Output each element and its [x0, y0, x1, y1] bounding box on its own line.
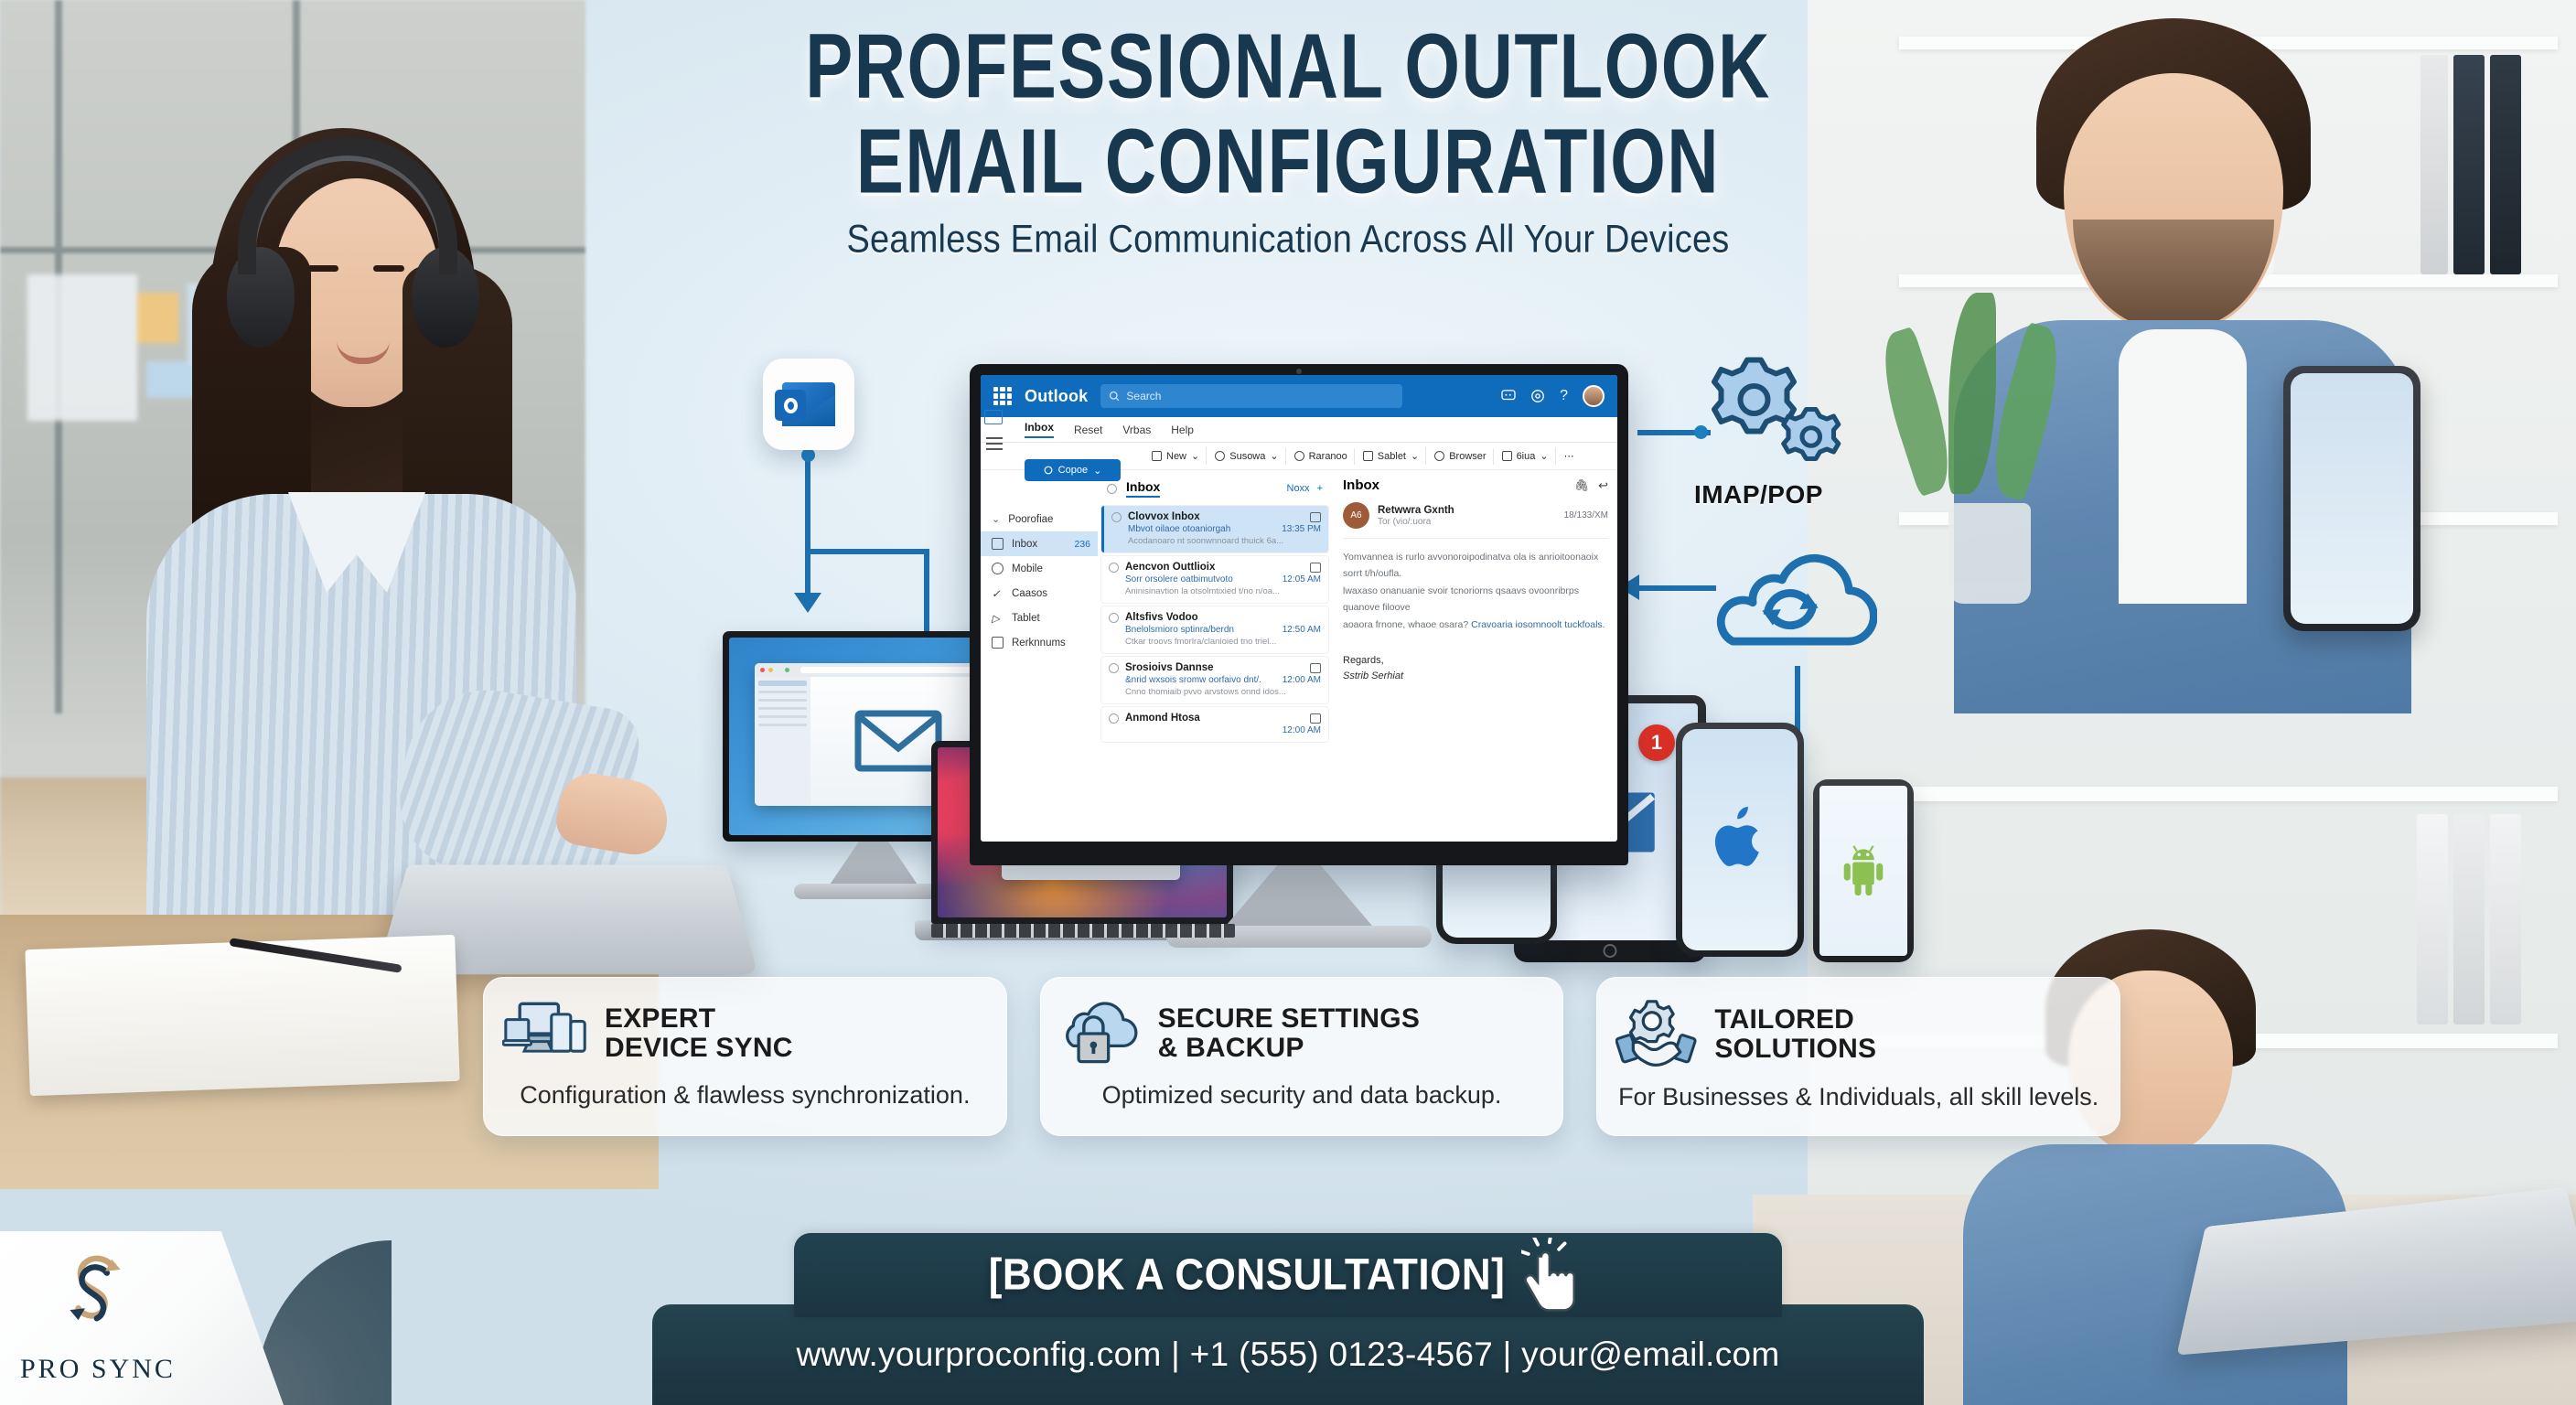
outlook-top-bar: Outlook Search ?: [981, 375, 1617, 417]
outlook-app-icon: [763, 359, 854, 450]
list-title: Inbox: [1126, 479, 1160, 498]
mail-envelope-icon: [854, 710, 942, 772]
devices-sync-icon: [502, 998, 590, 1069]
message-body: Yomvannea is rurlo avvonoroipodinatva ol…: [1343, 549, 1608, 633]
ribbon-raranoo[interactable]: Raranoo: [1288, 448, 1355, 465]
compose-icon: [1044, 466, 1053, 475]
sidebar-item-tablet[interactable]: ▷ Tablet: [981, 606, 1098, 630]
outlook-tab-bar: Inbox Reset Vrbas Help: [981, 417, 1617, 443]
trash-icon: [992, 637, 1004, 649]
card-title-line-2: & BACKUP: [1158, 1034, 1420, 1063]
small-monitor-foot: [794, 884, 954, 899]
home-button[interactable]: [1604, 944, 1617, 958]
mail-view-icon[interactable]: [984, 410, 1003, 424]
connector-right-down: [924, 549, 929, 631]
android-logo-icon: [1840, 843, 1887, 898]
compose-button[interactable]: Copoe⌄: [1025, 459, 1121, 481]
outlook-app-window: Outlook Search ? Inbox Reset Vrbas Help: [981, 375, 1617, 842]
outlook-sidebar: ⌄ Poorofiae Inbox 236 Mobile ✓ Caaso: [981, 470, 1098, 842]
notepad: [25, 935, 459, 1096]
headline-block: PROFESSIONAL OUTLOOK EMAIL CONFIGURATION…: [0, 24, 2576, 260]
chat-icon[interactable]: [1501, 390, 1516, 402]
card-description: Optimized security and data backup.: [1059, 1080, 1545, 1110]
list-add-button[interactable]: +: [1317, 483, 1323, 494]
card-title-line-2: DEVICE SYNC: [605, 1034, 793, 1063]
ribbon-overflow[interactable]: ⋯: [1558, 447, 1581, 465]
card-secure-settings-backup[interactable]: SECURE SETTINGS & BACKUP Optimized secur…: [1040, 977, 1564, 1136]
tab-vrbas[interactable]: Vrbas: [1122, 424, 1151, 436]
help-icon[interactable]: ?: [1560, 388, 1568, 404]
connector-right-branch: [810, 549, 929, 554]
sender-name: Retwwra Gxnth: [1378, 505, 1454, 516]
laptop-keyboard: [931, 924, 1235, 938]
book-consultation-button[interactable]: [BOOK A CONSULTATION]: [794, 1233, 1782, 1317]
menu-icon[interactable]: [986, 437, 1003, 450]
imap-pop-label: IMAP/POP: [1694, 480, 1956, 509]
reading-pane-title: Inbox: [1343, 477, 1379, 493]
ribbon-susowa[interactable]: Susowa⌄: [1208, 447, 1285, 465]
sidebar-item-mobile[interactable]: Mobile: [981, 556, 1098, 581]
reply-icon[interactable]: ↩: [1598, 478, 1608, 493]
handshake-gear-icon: [1615, 998, 1700, 1071]
tab-reset[interactable]: Reset: [1074, 424, 1102, 436]
ribbon-6iua[interactable]: 6iua⌄: [1496, 447, 1556, 465]
check-icon: ✓: [992, 587, 1004, 599]
click-cursor-icon: [1521, 1238, 1587, 1313]
contact-info[interactable]: www.yourproconfig.com | +1 (555) 0123-45…: [797, 1335, 1780, 1374]
outlook-body: ⌄ Poorofiae Inbox 236 Mobile ✓ Caaso: [981, 470, 1617, 842]
sidebar-item-rerknnums[interactable]: Rerknnums: [981, 630, 1098, 655]
settings-icon[interactable]: [1530, 389, 1545, 403]
sidebar-item-caasos[interactable]: ✓ Caasos: [981, 581, 1098, 606]
desktop-monitor: Outlook Search ? Inbox Reset Vrbas Help: [970, 364, 1628, 865]
handheld-phone: [2283, 366, 2420, 631]
s-sync-arrows-logo: [53, 1248, 137, 1332]
search-input[interactable]: Search: [1100, 384, 1402, 408]
inbox-icon: [992, 538, 1004, 550]
card-tailored-solutions[interactable]: TAILORED SOLUTIONS For Businesses & Indi…: [1596, 977, 2120, 1136]
gear-icon: [1681, 353, 1846, 463]
search-placeholder: Search: [1126, 390, 1161, 402]
search-icon: [1109, 391, 1120, 402]
envelope-icon: [782, 382, 835, 426]
outlook-brand: Outlook: [1025, 387, 1088, 406]
connector-dot: [801, 448, 815, 462]
connector-app-to-monitor: [805, 457, 810, 529]
android-device: [1813, 779, 1914, 962]
ribbon-browser[interactable]: Browser: [1428, 448, 1493, 465]
sender-recipients: Tor (vio/:uora: [1378, 517, 1454, 527]
avatar: A6: [1343, 502, 1369, 529]
message-body-link[interactable]: Cravoaria iosomnoolt tuckfoals.: [1471, 619, 1605, 630]
message-date: 18/133/XM: [1564, 510, 1608, 520]
card-title-line-1: TAILORED: [1714, 1005, 1876, 1035]
card-title-line-1: SECURE SETTINGS: [1158, 1004, 1420, 1034]
message-list-header: Inbox Noxx +: [1101, 477, 1328, 502]
table-row[interactable]: Srosioivs Dannse &nrid wxsois sromw oorf…: [1101, 657, 1328, 703]
sidebar-item-inbox[interactable]: Inbox 236: [981, 531, 1098, 556]
card-expert-device-sync[interactable]: EXPERT DEVICE SYNC Configuration & flawl…: [483, 977, 1007, 1136]
banner-canvas: PROFESSIONAL OUTLOOK EMAIL CONFIGURATION…: [0, 0, 2576, 1405]
attachment-icon[interactable]: 🖇: [1574, 478, 1590, 493]
app-launcher-icon[interactable]: [993, 387, 1012, 405]
table-row[interactable]: Clovvox Inbox Mbvot oilaoe otoaniorgah13…: [1101, 506, 1328, 552]
message-sender-row: A6 Retwwra Gxnth Tor (vio/:uora 18/133/X…: [1343, 502, 1608, 539]
cloud-sync-icon: [1703, 543, 1877, 681]
outlook-o-glyph: [775, 390, 806, 421]
page-title: PROFESSIONAL OUTLOOK EMAIL CONFIGURATION: [0, 24, 2576, 205]
mobile-icon: [992, 563, 1004, 574]
outlook-top-icons: ?: [1501, 385, 1605, 407]
webcam-icon: [1296, 369, 1302, 374]
table-row[interactable]: Aencvon Outtlioix Sorr orsolere oatbimut…: [1101, 556, 1328, 603]
sidebar-item-poorofiae[interactable]: ⌄ Poorofiae: [981, 507, 1098, 531]
card-title-line-1: EXPERT: [605, 1004, 793, 1034]
table-row[interactable]: Altsfivs Vodoo Bnelolsmioro sptinra/berd…: [1101, 606, 1328, 653]
select-all-checkbox[interactable]: [1107, 484, 1117, 494]
inbox-unread-count: 236: [1074, 539, 1090, 550]
cta-label: [BOOK A CONSULTATION]: [989, 1250, 1506, 1301]
reading-pane: Inbox 🖇 ↩ A6 Retwwra Gxnth Tor (vio/:uor…: [1334, 470, 1617, 842]
ribbon-sablet[interactable]: Sablet⌄: [1357, 447, 1426, 465]
message-signature: Regards, Sstrib Serhiat: [1343, 653, 1608, 685]
notification-badge: 1: [1638, 724, 1675, 761]
contact-footer-bar: www.yourproconfig.com | +1 (555) 0123-45…: [652, 1304, 1924, 1405]
apple-logo-icon: [1711, 805, 1769, 874]
tab-inbox[interactable]: Inbox: [1025, 421, 1054, 438]
tablet-icon: ▷: [992, 612, 1004, 624]
card-description: For Businesses & Individuals, all skill …: [1615, 1082, 2101, 1111]
avatar[interactable]: [1583, 385, 1605, 407]
table-row[interactable]: Anmond Htosa 12:00 AM: [1101, 707, 1328, 742]
card-title-line-2: SOLUTIONS: [1714, 1035, 1876, 1064]
imap-pop-group: IMAP/POP: [1681, 353, 1956, 509]
iphone-device: [1676, 723, 1804, 957]
card-description: Configuration & flawless synchronization…: [502, 1080, 988, 1110]
headline-line-2: EMAIL CONFIGURATION: [0, 119, 2576, 205]
headline-subtitle: Seamless Email Communication Across All …: [0, 218, 2576, 262]
ribbon-new[interactable]: New⌄: [1145, 447, 1207, 465]
feature-cards: EXPERT DEVICE SYNC Configuration & flawl…: [483, 977, 2120, 1136]
cloud-lock-icon: [1059, 998, 1143, 1069]
message-list: Inbox Noxx + Clovvox Inbox Mbvot oilaoe …: [1098, 470, 1334, 842]
arrow-down-icon: [794, 593, 821, 613]
list-filter[interactable]: Noxx: [1287, 483, 1310, 494]
brand-name: PRO SYNC: [20, 1354, 176, 1385]
connector-elbow-down: [805, 523, 810, 596]
headline-line-1: PROFESSIONAL OUTLOOK: [805, 15, 1771, 118]
tab-help[interactable]: Help: [1171, 424, 1194, 436]
